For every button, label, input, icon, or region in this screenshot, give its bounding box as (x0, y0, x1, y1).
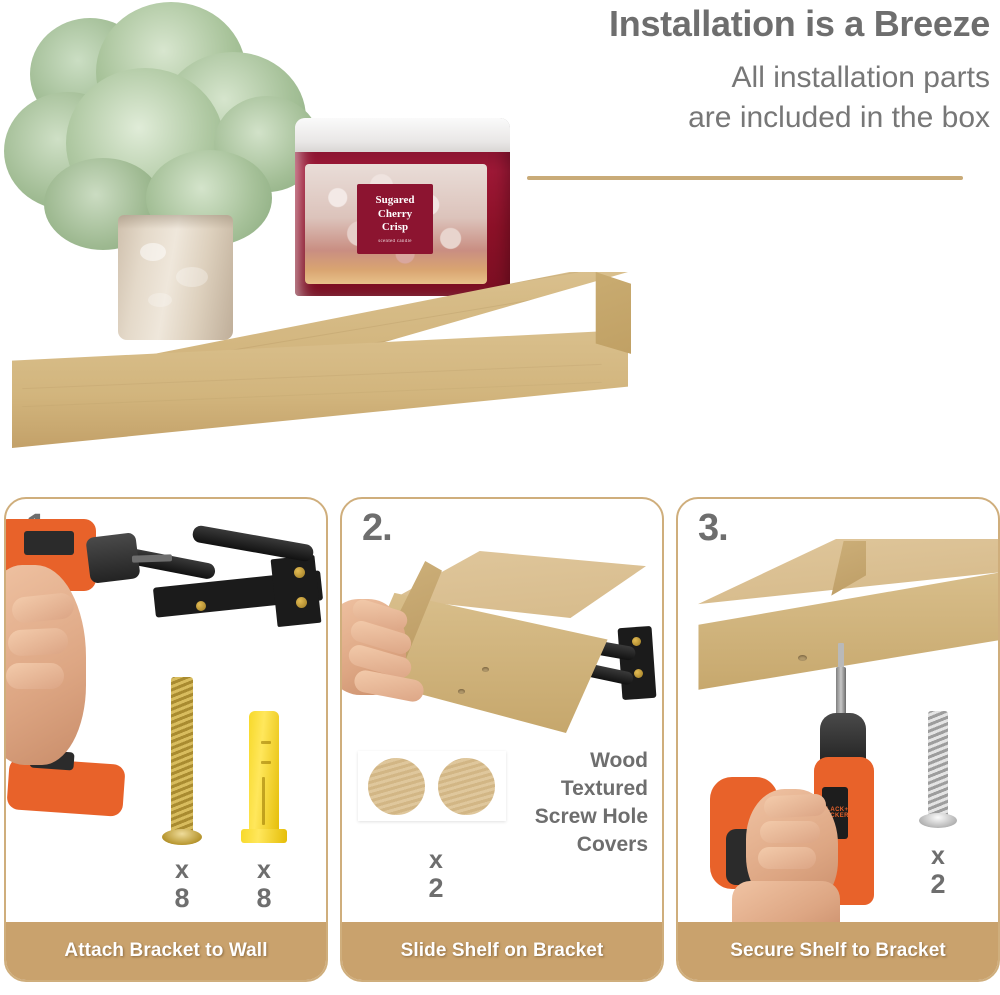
step-caption-2: Slide Shelf on Bracket (342, 922, 662, 980)
bracket-rod-upper (191, 525, 314, 563)
bracket-brass-screw-3 (196, 601, 206, 611)
hero-section: Sugared Cherry Crisp scented candle Inst… (0, 0, 1000, 485)
wood-screw-shaft (171, 677, 193, 835)
candle-label-line2: Cherry (378, 208, 412, 222)
drill3-finger-2 (760, 821, 820, 843)
headline-block: Installation is a Breeze All installatio… (470, 4, 990, 138)
page-subtitle: All installation parts are included in t… (470, 58, 990, 138)
subtitle-line-2: are included in the box (688, 101, 990, 134)
machine-screw-shaft (928, 711, 948, 819)
drill-label-plate (24, 531, 74, 555)
candle-label-line3: Crisp (382, 221, 408, 235)
screw-hole-cover-quantity: x 2 (412, 847, 460, 903)
wall-anchor-notch-2 (261, 761, 271, 764)
step-number-3: 3. (698, 507, 728, 550)
step-caption-1: Attach Bracket to Wall (6, 922, 326, 980)
wall-anchor-collar (241, 829, 287, 843)
step-panel-3: 3. BLACK+ DECKER x 2 Secure Shelf to Bra… (676, 497, 1000, 982)
wall-anchor-quantity: x 8 (240, 857, 288, 913)
step-caption-3: Secure Shelf to Bracket (678, 922, 998, 980)
candle-label: Sugared Cherry Crisp scented candle (357, 184, 433, 254)
plant-decoration (0, 0, 330, 350)
candle-label-subtitle: scented candle (378, 239, 412, 244)
covers-label-line-1: Wood (590, 749, 648, 772)
step-panel-2: 2. x 2 Wood Textured Screw Hole Covers S… (340, 497, 664, 982)
cover-qty-prefix: x (429, 846, 443, 874)
wall-bracket-wallplate (271, 555, 322, 627)
covers-label-line-4: Covers (577, 833, 648, 856)
screw-hole-covers-label: Wood Textured Screw Hole Covers (514, 747, 648, 859)
wood-screw-qty-value: 8 (158, 884, 206, 913)
bracket-brass-screw-1 (294, 567, 305, 578)
page-title: Installation is a Breeze (470, 4, 990, 44)
wall-anchor-qty-value: 8 (240, 884, 288, 913)
divider-rule (527, 176, 963, 180)
shelf-screw-hole-2 (458, 689, 465, 694)
bracket-brass-screw-2 (296, 597, 307, 608)
finger-3 (6, 663, 64, 689)
screw-hole-covers-group (358, 751, 506, 821)
machine-screw-qty-prefix: x (931, 842, 945, 870)
mounted-bracket-brass-1 (632, 637, 641, 646)
wall-anchor-notch-1 (261, 741, 271, 744)
mounted-shelf-hole (798, 655, 807, 661)
drill3-finger-3 (758, 847, 816, 869)
candle-label-line1: Sugared (376, 194, 415, 208)
wood-screw-head (162, 829, 202, 845)
cover-qty-value: 2 (412, 874, 460, 903)
candle-jar: Sugared Cherry Crisp scented candle (295, 118, 510, 296)
screw-hole-cover-1 (368, 758, 425, 815)
subtitle-line-1: All installation parts (732, 61, 990, 94)
finger-2 (7, 627, 68, 656)
machine-screw-quantity: x 2 (914, 843, 962, 899)
covers-label-line-3: Screw Hole (535, 805, 648, 828)
drill-bit (132, 554, 172, 562)
wall-anchor-slot (262, 777, 265, 825)
screw-hole-cover-2 (438, 758, 495, 815)
machine-screw-qty-value: 2 (914, 870, 962, 899)
machine-screw-head (919, 813, 957, 828)
wood-screw-quantity: x 8 (158, 857, 206, 913)
wood-screw-qty-prefix: x (175, 856, 189, 884)
step-number-2: 2. (362, 507, 392, 550)
covers-label-line-2: Textured (561, 777, 648, 800)
shelf-screw-hole-1 (482, 667, 489, 672)
mounted-bracket-brass-2 (634, 669, 643, 678)
drill3-finger-1 (763, 793, 826, 818)
plant-pot (118, 215, 233, 340)
step-panel-1: 1. x 8 x 8 Attach Bracket to Wall (4, 497, 328, 982)
wall-anchor-qty-prefix: x (257, 856, 271, 884)
